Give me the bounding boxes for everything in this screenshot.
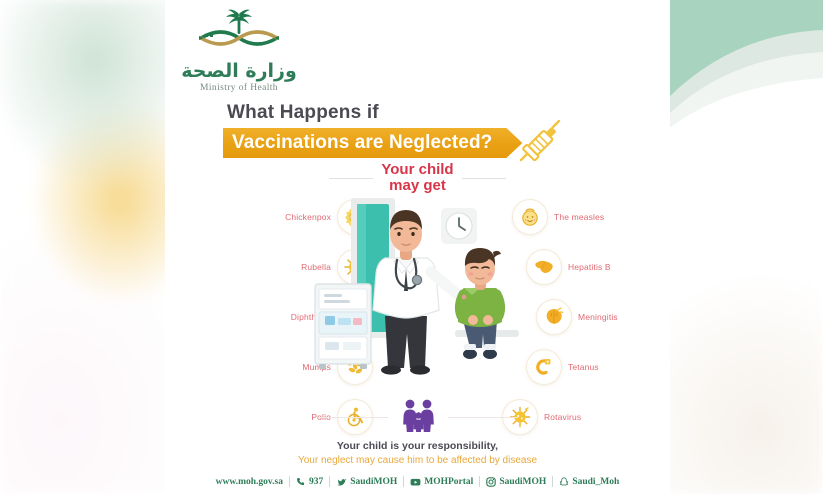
disease-item-hepatitis-b[interactable]: Hepatitis B bbox=[527, 242, 650, 292]
footer-snapchat[interactable]: Saudi_Moh bbox=[553, 477, 625, 487]
medicine-cabinet bbox=[315, 284, 371, 369]
screenshot-canvas: وزارة الصحة Ministry of Health What Happ… bbox=[0, 0, 823, 494]
subtitle: Your child may get bbox=[381, 162, 453, 194]
logo-english-text: Ministry of Health bbox=[179, 83, 299, 93]
instagram-icon bbox=[486, 477, 496, 487]
subtitle-line-2: may get bbox=[381, 178, 453, 194]
snapchat-icon bbox=[559, 477, 569, 487]
footer-label: www.moh.gov.sa bbox=[216, 477, 283, 487]
tagline-line-1: Your child is your responsibility, bbox=[165, 440, 670, 452]
tetanus-bacteria-icon bbox=[527, 350, 561, 384]
footer-label: SaudiMOH bbox=[499, 477, 546, 487]
footer-bar: www.moh.gov.sa 937 SaudiMOH bbox=[165, 476, 670, 487]
family-rule-left bbox=[318, 417, 388, 418]
tagline-line-2: Your neglect may cause him to be affecte… bbox=[165, 455, 670, 466]
subtitle-row: Your child may get bbox=[165, 162, 670, 194]
doctor-vaccinating-child-illustration bbox=[313, 196, 528, 391]
injection-site bbox=[462, 295, 467, 300]
meningitis-brain-icon bbox=[537, 300, 571, 334]
tagline: Your child is your responsibility, Your … bbox=[165, 440, 670, 466]
palm-tree-swords-emblem bbox=[191, 8, 287, 60]
disease-label: The measles bbox=[554, 212, 604, 222]
title-banner-row: Vaccinations are Neglected? bbox=[223, 128, 623, 158]
subtitle-rule-right bbox=[462, 178, 506, 179]
disease-item-meningitis[interactable]: Meningitis bbox=[537, 292, 650, 342]
footer-instagram[interactable]: SaudiMOH bbox=[480, 477, 552, 487]
disease-label: Meningitis bbox=[578, 312, 618, 322]
subtitle-line-1: Your child bbox=[381, 162, 453, 178]
footer-website[interactable]: www.moh.gov.sa bbox=[210, 477, 289, 487]
subtitle-rule-left bbox=[329, 178, 373, 179]
disease-item-tetanus[interactable]: Tetanus bbox=[527, 342, 650, 392]
twitter-icon bbox=[336, 477, 347, 487]
footer-label: 937 bbox=[309, 477, 323, 487]
family-rule-right bbox=[448, 417, 518, 418]
phone-icon bbox=[296, 477, 306, 487]
family-row bbox=[165, 398, 670, 437]
child-figure bbox=[458, 248, 502, 359]
footer-label: Saudi_Moh bbox=[572, 477, 619, 487]
logo-arabic-text: وزارة الصحة bbox=[179, 61, 299, 82]
youtube-icon bbox=[410, 477, 421, 487]
moh-logo: وزارة الصحة Ministry of Health bbox=[179, 8, 299, 93]
title-area: What Happens if Vaccinations are Neglect… bbox=[223, 102, 623, 158]
footer-twitter[interactable]: SaudiMOH bbox=[330, 477, 403, 487]
footer-label: SaudiMOH bbox=[350, 477, 397, 487]
title-banner: Vaccinations are Neglected? bbox=[223, 128, 522, 158]
footer-phone[interactable]: 937 bbox=[290, 477, 329, 487]
disease-label: Tetanus bbox=[568, 362, 599, 372]
disease-item-measles[interactable]: The measles bbox=[513, 192, 650, 242]
liver-icon bbox=[527, 250, 561, 284]
footer-youtube[interactable]: MOHPortal bbox=[404, 477, 479, 487]
footer-label: MOHPortal bbox=[424, 477, 473, 487]
family-icon bbox=[398, 398, 438, 437]
disease-label: Hepatitis B bbox=[568, 262, 611, 272]
vaccination-poster: وزارة الصحة Ministry of Health What Happ… bbox=[165, 0, 670, 494]
